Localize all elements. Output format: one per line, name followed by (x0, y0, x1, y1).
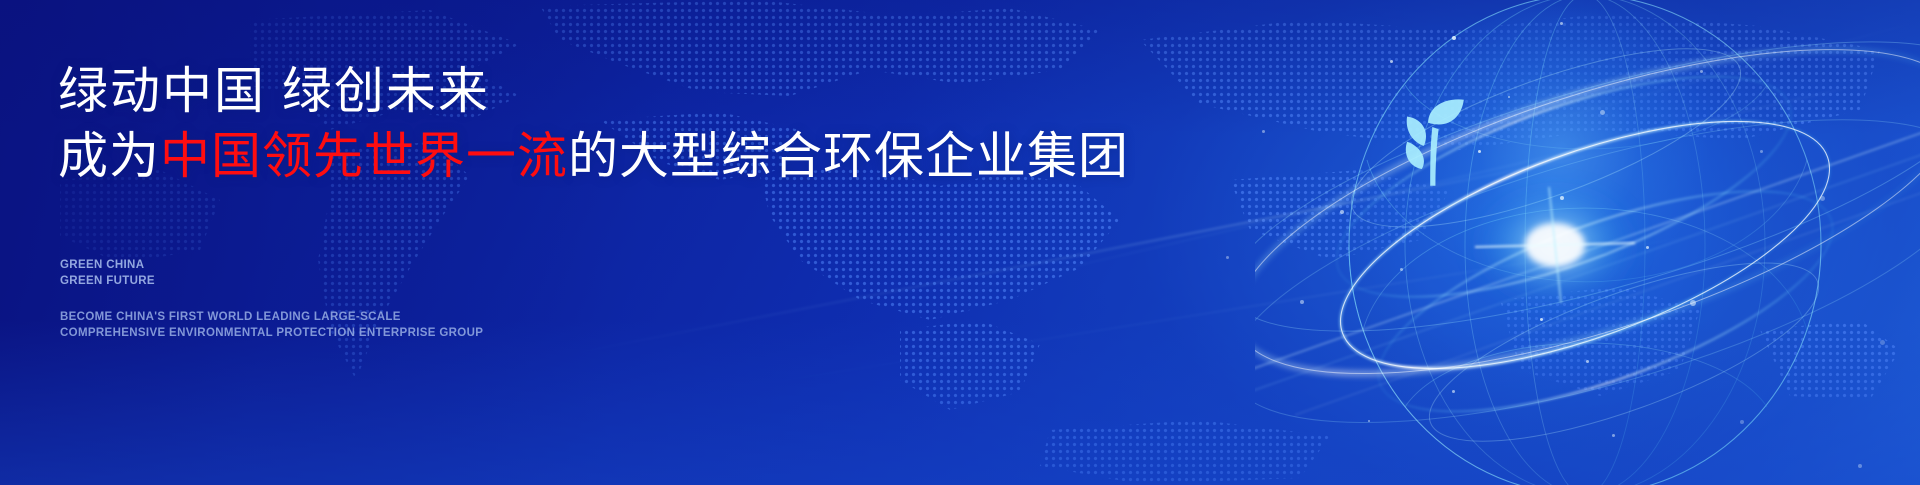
light-streak-4 (1163, 16, 1920, 224)
slogan-line-2: GREEN FUTURE (60, 274, 155, 290)
light-streak-2 (706, 228, 1743, 394)
wireframe-globe-graphic (1255, 0, 1920, 485)
description-english: BECOME CHINA'S FIRST WORLD LEADING LARGE… (60, 310, 483, 341)
headline-line-2: 成为中国领先世界一流的大型综合环保企业集团 (58, 127, 1138, 186)
description-line-2: COMPREHENSIVE ENVIRONMENTAL PROTECTION E… (60, 326, 483, 342)
description-line-1: BECOME CHINA'S FIRST WORLD LEADING LARGE… (60, 310, 483, 326)
slogan-english: GREEN CHINA GREEN FUTURE (60, 258, 155, 289)
headline-line2-accent: 中国领先世界一流 (160, 128, 568, 184)
sprout-leaf-icon (1406, 99, 1464, 185)
hero-banner: 绿动中国 绿创未来 成为中国领先世界一流的大型综合环保企业集团 GREEN CH… (0, 0, 1920, 485)
headline-line2-suffix: 的大型综合环保企业集团 (568, 128, 1129, 184)
headline-block: 绿动中国 绿创未来 成为中国领先世界一流的大型综合环保企业集团 (58, 62, 1138, 186)
headline-line2-prefix: 成为 (58, 128, 160, 184)
headline-line-1: 绿动中国 绿创未来 (58, 62, 1138, 121)
slogan-line-1: GREEN CHINA (60, 258, 155, 274)
ambient-glow (1410, 0, 1710, 300)
